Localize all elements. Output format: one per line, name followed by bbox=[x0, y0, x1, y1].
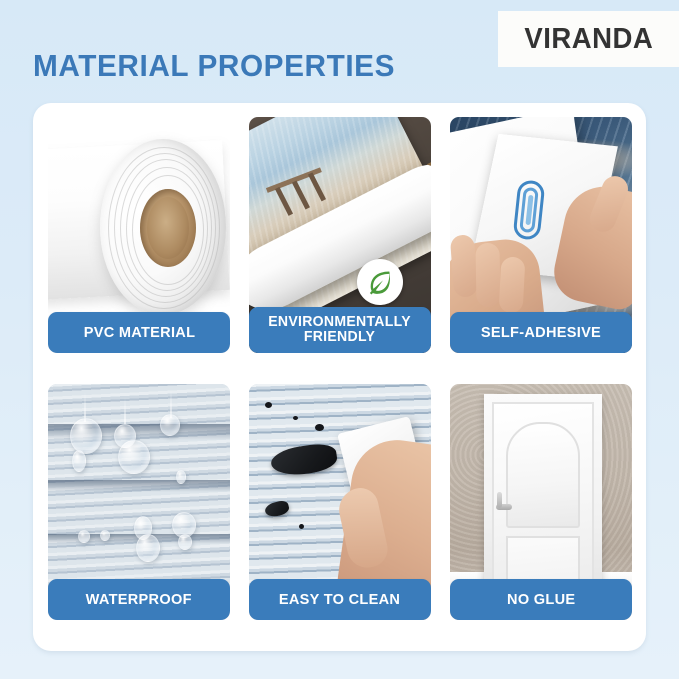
feature-label-no-glue: NO GLUE bbox=[450, 579, 632, 620]
brand-name: VIRANDA bbox=[524, 23, 653, 56]
feature-label-text: EASY TO CLEAN bbox=[279, 592, 400, 608]
feature-card-environmentally-friendly[interactable]: ENVIRONMENTALLYFRIENDLY bbox=[249, 117, 431, 353]
feature-label-pvc-material: PVC MATERIAL bbox=[48, 312, 230, 353]
feature-label-self-adhesive: SELF-ADHESIVE bbox=[450, 312, 632, 353]
feature-label-text: ENVIRONMENTALLYFRIENDLY bbox=[269, 315, 412, 346]
feature-label-text: NO GLUE bbox=[507, 592, 575, 608]
feature-label-waterproof: WATERPROOF bbox=[48, 579, 230, 620]
feature-label-text: SELF-ADHESIVE bbox=[481, 325, 601, 341]
feature-label-easy-to-clean: EASY TO CLEAN bbox=[249, 579, 431, 620]
feature-card-self-adhesive[interactable]: SELF-ADHESIVE bbox=[450, 117, 632, 353]
feature-card-easy-to-clean[interactable]: EASY TO CLEAN bbox=[249, 384, 431, 620]
feature-grid: PVC MATERIAL bbox=[48, 117, 632, 620]
page-title: MATERIAL PROPERTIES bbox=[33, 48, 395, 84]
brand-logo: VIRANDA bbox=[498, 11, 679, 67]
feature-card-waterproof[interactable]: WATERPROOF bbox=[48, 384, 230, 620]
feature-label-text: WATERPROOF bbox=[86, 592, 192, 608]
infographic-page: VIRANDA MATERIAL PROPERTIES PVC MATERIAL bbox=[0, 0, 679, 679]
feature-card-pvc-material[interactable]: PVC MATERIAL bbox=[48, 117, 230, 353]
feature-label-text: PVC MATERIAL bbox=[83, 325, 195, 341]
leaf-icon bbox=[366, 268, 394, 296]
eco-badge bbox=[357, 259, 403, 305]
feature-card-no-glue[interactable]: NO GLUE bbox=[450, 384, 632, 620]
feature-label-environmentally-friendly: ENVIRONMENTALLYFRIENDLY bbox=[249, 307, 431, 353]
